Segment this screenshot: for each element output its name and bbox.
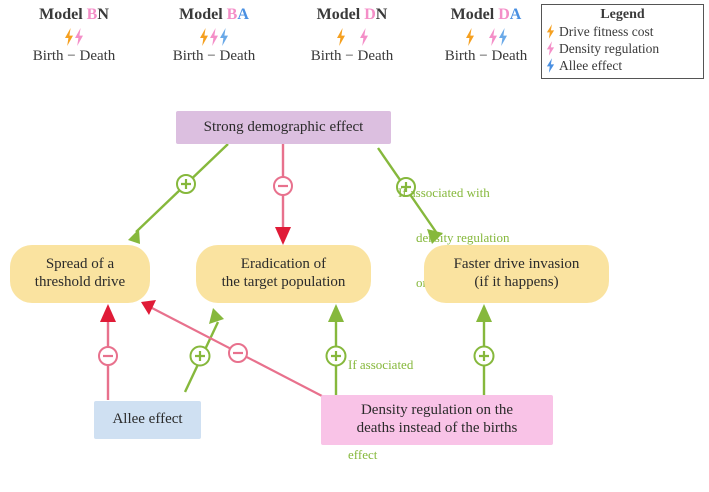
diagram-canvas: Model BN Birth − Death Model BA bbox=[0, 0, 709, 452]
edge-label-line: density regulation bbox=[398, 230, 510, 245]
node-density-regulation-on-deaths[interactable]: Density regulation on the deaths instead… bbox=[321, 395, 553, 445]
edge-label-line: If associated bbox=[348, 357, 413, 372]
arrowhead-negative bbox=[100, 304, 116, 322]
node-label-line: the target population bbox=[222, 274, 346, 292]
arrowhead-positive bbox=[209, 308, 224, 324]
node-label-line: Spread of a bbox=[46, 256, 114, 274]
node-label: Allee effect bbox=[112, 411, 182, 429]
edge-label-line: If associated with bbox=[398, 185, 510, 200]
node-label-line: threshold drive bbox=[35, 274, 125, 292]
node-faster-drive-invasion[interactable]: Faster drive invasion (if it happens) bbox=[424, 245, 609, 303]
node-label-line: deaths instead of the births bbox=[357, 420, 518, 438]
arrowhead-positive bbox=[128, 229, 140, 244]
node-strong-demographic-effect[interactable]: Strong demographic effect bbox=[176, 111, 391, 144]
arrowhead-negative bbox=[275, 227, 291, 245]
node-eradication-target-population[interactable]: Eradication of the target population bbox=[196, 245, 371, 303]
arrowhead-negative bbox=[141, 300, 156, 315]
node-label-line: Eradication of bbox=[241, 256, 326, 274]
node-label: Strong demographic effect bbox=[204, 119, 364, 137]
node-allee-effect[interactable]: Allee effect bbox=[94, 401, 201, 439]
arrowhead-positive bbox=[328, 304, 344, 322]
node-label-line: Faster drive invasion bbox=[454, 256, 580, 274]
edge-label-line: effect bbox=[348, 447, 413, 462]
node-spread-threshold-drive[interactable]: Spread of a threshold drive bbox=[10, 245, 150, 303]
node-label-line: (if it happens) bbox=[474, 274, 558, 292]
node-label-line: Density regulation on the bbox=[361, 402, 513, 420]
